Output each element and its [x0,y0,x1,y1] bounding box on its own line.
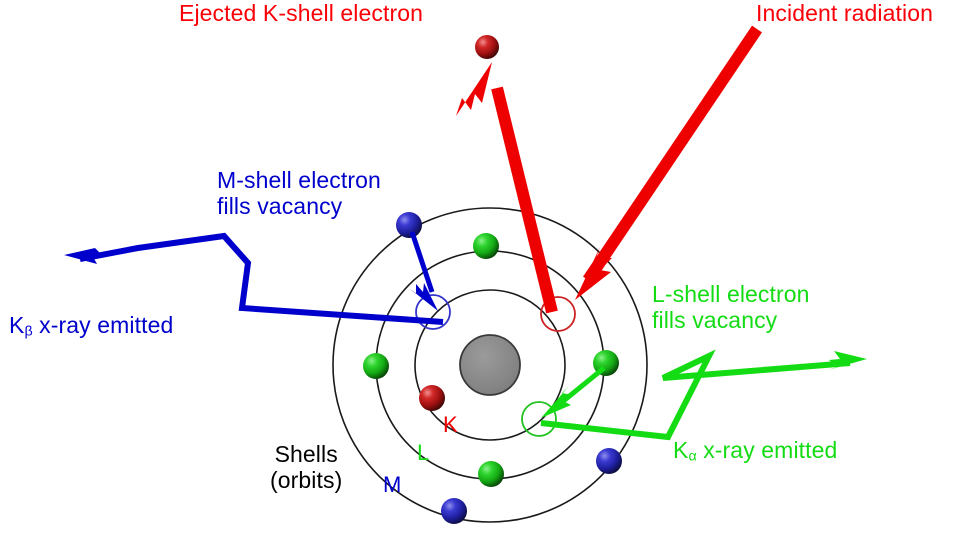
label-ejected-k-shell-electron: Ejected K-shell electron [179,1,423,27]
k-beta-text: x-ray emitted [33,312,174,338]
label-l-shell-electron-fills-vacancy: L-shell electron fills vacancy [652,282,810,334]
shell-label-m: M [383,472,401,498]
electron-l-shell-left [363,353,389,379]
electron-m-shell-topleft [396,212,422,238]
nucleus [460,335,520,395]
k-alpha-symbol: K [673,437,688,463]
arrow-k-beta-xray [64,236,443,322]
arrow-incident-radiation [575,29,757,300]
label-k-beta-xray-emitted: Kβ x-ray emitted [9,313,173,341]
label-incident-radiation: Incident radiation [756,1,933,27]
label-shells-orbits: Shells (orbits) [270,442,342,494]
k-beta-subscript: β [24,324,32,340]
electron-m-shell-bottomright [596,448,622,474]
electron-m-shell-bottom [441,498,467,524]
k-alpha-subscript: α [688,449,696,465]
arrow-ejected-electron [456,35,552,312]
ejected-electron-sphere [475,35,499,59]
electron-l-shell-bottom [478,461,504,487]
label-m-shell-electron-fills-vacancy: M-shell electron fills vacancy [217,168,381,220]
diagram-canvas: Ejected K-shell electron Incident radiat… [0,0,962,534]
k-alpha-text: x-ray emitted [697,437,838,463]
arrow-k-alpha-xray [541,351,867,437]
arrow-m-to-l-transition [409,232,438,311]
shell-label-k: K [443,412,458,438]
shell-label-l: L [417,440,429,466]
electron-l-shell-top [473,233,499,259]
label-k-alpha-xray-emitted: Kα x-ray emitted [673,438,837,466]
electron-k-shell-red [419,385,445,411]
k-beta-symbol: K [9,312,24,338]
